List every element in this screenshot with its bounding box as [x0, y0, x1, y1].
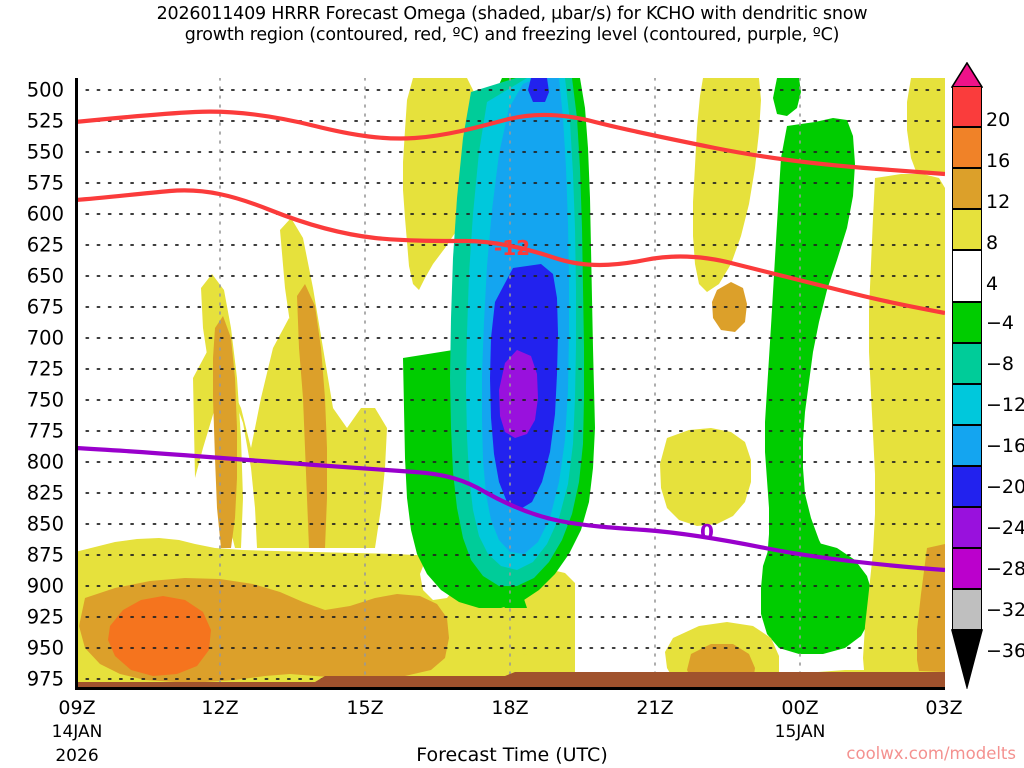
- cbar-tick-m16: −16: [986, 435, 1024, 457]
- cbar-cell-16-12: [952, 127, 982, 168]
- shade-yellow-faredge-2: [907, 78, 945, 174]
- cbar-tick-8: 8: [986, 232, 998, 254]
- y-tick-700: 700: [27, 327, 64, 350]
- colorbar: [952, 86, 982, 684]
- y-tick-825: 825: [27, 482, 64, 505]
- cbar-cell-m28-m32: [952, 548, 982, 589]
- cbar-cell-m32-m36: [952, 589, 982, 630]
- x-tick-03z: 03Z: [925, 697, 962, 719]
- title-line-1: 2026011409 HRRR Forecast Omega (shaded, …: [157, 4, 868, 24]
- x-tick-09z: 09Z: [58, 697, 95, 719]
- omega-cross-section: -12 0: [75, 78, 945, 690]
- title-line-2: growth region (contoured, red, ºC) and f…: [0, 25, 1024, 46]
- cbar-cell-m24-m28: [952, 507, 982, 548]
- cbar-tick-m8: −8: [986, 353, 1014, 375]
- x-tick-00z: 00Z: [781, 697, 818, 719]
- y-tick-600: 600: [27, 203, 64, 226]
- x-tick-12z: 12Z: [201, 697, 238, 719]
- cbar-tick-m32: −32: [986, 599, 1024, 621]
- cbar-cell-8-4: [952, 209, 982, 250]
- chart-root: 2026011409 HRRR Forecast Omega (shaded, …: [0, 0, 1024, 768]
- cbar-cell-m20-m24: [952, 466, 982, 507]
- cbar-tick-4: 4: [986, 273, 998, 295]
- y-tick-550: 550: [27, 141, 64, 164]
- cbar-cell-m8-m12: [952, 343, 982, 384]
- x-tick-15z: 15Z: [346, 697, 383, 719]
- cbar-cell-m4-m8: [952, 302, 982, 343]
- x-date-15jan: 15JAN: [775, 722, 826, 742]
- y-tick-725: 725: [27, 358, 64, 381]
- y-tick-750: 750: [27, 389, 64, 412]
- y-tick-575: 575: [27, 172, 64, 195]
- y-tick-850: 850: [27, 513, 64, 536]
- colorbar-over-arrow: [951, 62, 983, 88]
- y-tick-650: 650: [27, 265, 64, 288]
- y-tick-625: 625: [27, 234, 64, 257]
- y-tick-500: 500: [27, 79, 64, 102]
- y-tick-525: 525: [27, 110, 64, 133]
- y-tick-925: 925: [27, 606, 64, 629]
- cbar-tick-m12: −12: [986, 394, 1024, 416]
- plot-area: -12 0: [75, 78, 945, 690]
- cbar-tick-20: 20: [986, 109, 1010, 131]
- cbar-tick-12: 12: [986, 191, 1010, 213]
- cbar-cell-20-16: [952, 86, 982, 127]
- watermark: coolwx.com/modelts: [846, 744, 1016, 763]
- cbar-tick-m20: −20: [986, 476, 1024, 498]
- colorbar-under-arrow: [951, 629, 983, 689]
- cbar-tick-16: 16: [986, 150, 1010, 172]
- contour-label-freezing: 0: [700, 520, 714, 544]
- cbar-tick-m28: −28: [986, 558, 1024, 580]
- y-tick-975: 975: [27, 668, 64, 691]
- cbar-cell-4-m4: [952, 250, 982, 302]
- y-tick-875: 875: [27, 544, 64, 567]
- y-tick-675: 675: [27, 296, 64, 319]
- x-tick-21z: 21Z: [636, 697, 673, 719]
- cbar-tick-m24: −24: [986, 517, 1024, 539]
- y-tick-775: 775: [27, 420, 64, 443]
- page-title: 2026011409 HRRR Forecast Omega (shaded, …: [0, 4, 1024, 46]
- x-tick-18z: 18Z: [491, 697, 528, 719]
- cbar-tick-m4: −4: [986, 312, 1014, 334]
- cbar-cell-m12-m16: [952, 384, 982, 425]
- cbar-tick-m36: −36: [986, 640, 1024, 662]
- cbar-cell-m16-m20: [952, 425, 982, 466]
- y-tick-800: 800: [27, 451, 64, 474]
- y-tick-900: 900: [27, 575, 64, 598]
- cbar-cell-12-8: [952, 168, 982, 209]
- contour-label-dendritic: -12: [494, 236, 530, 260]
- x-date-14jan: 14JAN: [52, 722, 103, 742]
- y-tick-950: 950: [27, 637, 64, 660]
- y-axis: 500 525 550 575 600 625 650 675 700 725 …: [0, 0, 72, 768]
